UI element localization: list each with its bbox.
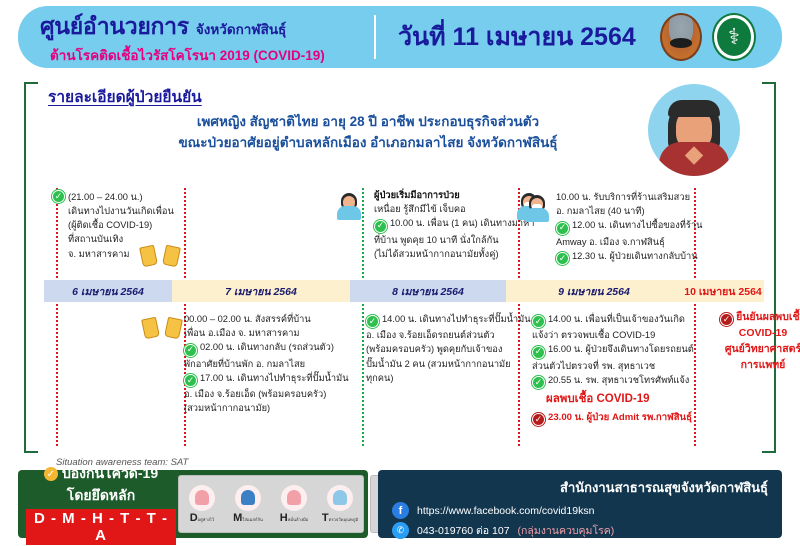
phone-number: 043-019760 ต่อ 107 — [417, 522, 510, 539]
entry-line-with-check: ✓14.00 น. เดินทางไปทำธุระที่ปั๊มน้ำมัน — [366, 312, 531, 328]
entry-heading: ผู้ป่วยเริ่มมีอาการป่วย — [374, 188, 534, 202]
entry-line: Amway อ. เมือง จ.กาฬสินธุ์ — [556, 235, 702, 249]
positive-result-text: ผลพบเชื้อ COVID-19 — [532, 391, 694, 408]
date-band-apr7: 7 เมษายน 2564 — [172, 280, 350, 302]
avatar-fringe — [668, 100, 720, 117]
dmhta-line-1: ✓ ป้องกันโควิด-19 — [26, 463, 176, 485]
entry-line-with-check: ✓14.00 น. เพื่อนที่เป็นเจ้าของวันเกิด — [532, 312, 694, 328]
entry-apr8-bottom: ✓14.00 น. เดินทางไปทำธุระที่ปั๊มน้ำมัน อ… — [366, 312, 531, 385]
entry-line: ที่บ้าน พูดคุย 10 นาที นั่งใกล้กัน — [374, 233, 534, 247]
header-emblems: ⚕ — [660, 13, 756, 61]
dmhta-icon-m: Mใส่แมสก์กัน — [226, 485, 270, 524]
entry-line-with-check: ✓16.00 น. ผู้ป่วยจึงเดินทางโดยรถยนต์ — [532, 342, 694, 358]
entry-line: (พร้อมครอบครัว) พูดคุยกับเจ้าของ — [366, 342, 531, 356]
patient-line-1: เพศหญิง สัญชาติไทย อายุ 28 ปี อาชีพ ประก… — [88, 112, 648, 133]
date-band-apr8: 8 เมษายน 2564 — [350, 280, 506, 302]
entry-line-with-check: ✓12.30 น. ผู้ป่วยเดินทางกลับบ้าน — [556, 249, 702, 265]
entry-apr7: 00.00 – 02.00 น. สังสรรค์ที่บ้าน เพื่อน … — [184, 312, 349, 415]
timeline-date-bands: 6 เมษายน 2564 7 เมษายน 2564 8 เมษายน 256… — [44, 280, 764, 302]
dmhta-panel: ✓ ป้องกันโควิด-19 โดยยึดหลัก D - M - H -… — [18, 470, 368, 538]
header-title-block: ศูนย์อำนวยการ จังหวัดกาฬสินธุ์ ต้านโรคติ… — [18, 9, 374, 66]
entry-line: (สวมหน้ากากอนามัย) — [184, 401, 349, 415]
organisation-name: สำนักงานสาธารณสุขจังหวัดกาฬสินธุ์ — [392, 477, 768, 498]
check-icon: ✓ — [556, 252, 569, 265]
timeline-top-row: ✓ (21.00 – 24.00 น.) เดินทางไปงานวันเกิด… — [44, 188, 764, 280]
entry-line: แจ้งว่า ตรวจพบเชื้อ COVID-19 — [532, 328, 694, 342]
confirm-line-3: ศูนย์วิทยาศาสตร์ — [704, 342, 800, 358]
confirm-line-2: COVID-19 — [704, 326, 800, 342]
check-icon: ✓ — [374, 220, 387, 233]
entry-apr8-top: ผู้ป่วยเริ่มมีอาการป่วย เหนื่อย รู้สึกมี… — [374, 188, 534, 261]
beer-mugs-icon-2 — [142, 308, 182, 338]
header-subtitle: ต้านโรคติดเชื้อไวรัสโคโรนา 2019 (COVID-1… — [40, 44, 374, 66]
check-icon: ✓ — [532, 346, 545, 359]
entry-line: เพื่อน อ.เมือง จ. มหาสารคาม — [184, 326, 349, 340]
entry-line: พักอาศัยที่บ้านพัก อ. กมลาไสย — [184, 357, 349, 371]
check-icon-dark: ✓ — [720, 313, 733, 326]
patient-description: เพศหญิง สัญชาติไทย อายุ 28 ปี อาชีพ ประก… — [88, 112, 648, 154]
beer-mugs-icon — [140, 236, 180, 266]
entry-line: (21.00 – 24.00 น.) — [68, 190, 174, 204]
admit-line: ✓23.00 น. ผู้ป่วย Admit รพ.กาฬสินธุ์ — [532, 410, 694, 426]
panel-title: รายละเอียดผู้ป่วยยืนยัน — [48, 84, 202, 109]
page-header: ศูนย์อำนวยการ จังหวัดกาฬสินธุ์ ต้านโรคติ… — [18, 6, 782, 68]
entry-line: 10.00 น. รับบริการที่ร้านเสริมสวย — [556, 190, 702, 204]
sick-person-icon — [334, 188, 364, 222]
header-divider — [374, 15, 376, 59]
distancing-icon — [189, 485, 215, 511]
date-band-apr10: 10 เมษายน 2564 — [682, 280, 764, 302]
timeline-bottom-row: 00.00 – 02.00 น. สังสรรค์ที่บ้าน เพื่อน … — [44, 302, 764, 446]
entry-apr9-top: 10.00 น. รับบริการที่ร้านเสริมสวย อ. กมล… — [556, 190, 702, 265]
telephone-icon[interactable]: ✆ — [392, 522, 409, 539]
salon-person-icon — [522, 190, 552, 224]
dmhta-text-block: ✓ ป้องกันโควิด-19 โดยยึดหลัก D - M - H -… — [26, 463, 176, 545]
date-band-apr9: 9 เมษายน 2564 — [506, 280, 682, 302]
dmhta-icons-group-1: Dอยู่ห่างไว้ Mใส่แมสก์กัน Hหมั่นล้างมือ … — [178, 475, 364, 533]
entry-line: 00.00 – 02.00 น. สังสรรค์ที่บ้าน — [184, 312, 349, 326]
check-icon: ✓ — [366, 315, 379, 328]
avatar — [648, 84, 740, 176]
entry-line-with-check: ✓12.00 น. เดินทางไปซื้อของที่ร้าน — [556, 218, 702, 234]
entry-line: อ. เมือง จ.ร้อยเอ็ด (พร้อมครอบครัว) — [184, 387, 349, 401]
entry-line: เหนื่อย รู้สึกมีไข้ เจ็บคอ — [374, 202, 534, 216]
dmhta-icon-t1: Tตรวจวัดอุณหภูมิ — [318, 485, 362, 524]
entry-line: เดินทางไปงานวันเกิดเพื่อน — [68, 204, 174, 218]
handwash-icon — [281, 485, 307, 511]
entry-line: ปั๊มน้ำมัน 2 คน (สวมหน้ากากอนามัย — [366, 357, 531, 371]
facebook-url[interactable]: https://www.facebook.com/covid19ksn — [417, 505, 594, 517]
entry-line: ทุกคน) — [366, 371, 531, 385]
entry-line: (ผู้ติดเชื้อ COVID-19) — [68, 218, 174, 232]
facebook-icon[interactable]: f — [392, 502, 409, 519]
dmhta-line-2: โดยยึดหลัก — [26, 485, 176, 507]
kalasin-provincial-seal-icon — [660, 13, 702, 61]
phone-note: (กลุ่มงานควบคุมโรค) — [518, 522, 615, 539]
check-icon: ✓ — [532, 376, 545, 389]
confirm-line-1: ✓ยืนยันผลพบเชื้อ — [704, 310, 800, 326]
page-title: ศูนย์อำนวยการ — [40, 9, 189, 45]
confirm-line-4: การแพทย์ — [704, 358, 800, 374]
check-icon-dark: ✓ — [532, 413, 545, 426]
check-icon: ✓ — [556, 222, 569, 235]
bracket-left — [24, 82, 38, 453]
dmhta-icon-h: Hหมั่นล้างมือ — [272, 485, 316, 524]
ministry-of-public-health-seal-icon: ⚕ — [712, 13, 756, 61]
entry-line-with-check: ✓17.00 น. เดินทางไปทำธุระที่ปั๊มน้ำมัน — [184, 371, 349, 387]
entry-apr9-bottom: ✓14.00 น. เพื่อนที่เป็นเจ้าของวันเกิด แจ… — [532, 312, 694, 426]
timeline: ✓ (21.00 – 24.00 น.) เดินทางไปงานวันเกิด… — [44, 188, 764, 446]
entry-line: (ไม่ได้สวมหน้ากากอนามัยทั้งคู่) — [374, 247, 534, 261]
facebook-row[interactable]: f https://www.facebook.com/covid19ksn — [392, 502, 768, 519]
entry-line: อ. เมือง จ.ร้อยเอ็ดรถยนต์ส่วนตัว — [366, 328, 531, 342]
phone-row: ✆ 043-019760 ต่อ 107 (กลุ่มงานควบคุมโรค) — [392, 522, 768, 539]
check-icon: ✓ — [532, 315, 545, 328]
contact-panel: สำนักงานสาธารณสุขจังหวัดกาฬสินธุ์ f http… — [378, 470, 782, 538]
entry-line-with-check: ✓20.55 น. รพ. สุทธาเวชโทรศัพท์แจ้ง — [532, 373, 694, 389]
dmhta-icon-d: Dอยู่ห่างไว้ — [180, 485, 224, 524]
check-icon: ✓ — [52, 190, 65, 203]
mask-icon — [235, 485, 261, 511]
entry-line-with-check: ✓02.00 น. เดินทางกลับ (รถส่วนตัว) — [184, 340, 349, 356]
header-date: วันที่ 11 เมษายน 2564 — [398, 17, 636, 57]
entry-line: อ. กมลาไสย (40 นาที) — [556, 204, 702, 218]
patient-line-2: ขณะป่วยอาศัยอยู่ตำบลหลักเมือง อำเภอกมลาไ… — [88, 133, 648, 154]
entry-apr10: ✓ยืนยันผลพบเชื้อ COVID-19 ศูนย์วิทยาศาสต… — [704, 310, 800, 374]
check-icon: ✓ — [184, 374, 197, 387]
thermometer-icon — [327, 485, 353, 511]
main-panel: รายละเอียดผู้ป่วยยืนยัน เพศหญิง สัญชาติไ… — [18, 76, 782, 461]
date-band-apr6: 6 เมษายน 2564 — [44, 280, 172, 302]
entry-line: ส่วนตัวไปตรวจที่ รพ. สุทธาเวช — [532, 359, 694, 373]
entry-line-with-check: ✓10.00 น. เพื่อน (1 คน) เดินทางมาหา — [374, 216, 534, 232]
dmhta-code: D - M - H - T - T - A — [26, 509, 176, 545]
check-icon: ✓ — [184, 344, 197, 357]
bracket-right — [762, 82, 776, 453]
page-footer: ✓ ป้องกันโควิด-19 โดยยึดหลัก D - M - H -… — [18, 470, 782, 538]
header-province: จังหวัดกาฬสินธุ์ — [196, 18, 286, 40]
check-icon-yellow: ✓ — [44, 467, 58, 481]
